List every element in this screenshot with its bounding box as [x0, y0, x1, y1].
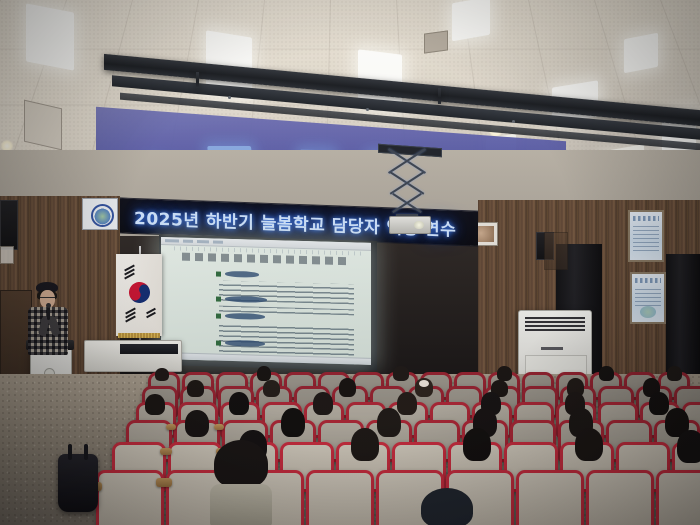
attendee [184, 410, 210, 438]
seat-armrest [156, 478, 172, 487]
attendee [186, 380, 205, 398]
truss-bolt [228, 96, 231, 99]
attendee-hair [187, 380, 204, 397]
taeguk-circle [125, 278, 153, 306]
ac-brand-label [541, 347, 563, 350]
attendee-hair [667, 366, 682, 381]
auditorium-seat [306, 470, 374, 525]
auditorium-seat [586, 470, 654, 525]
ceiling-scissor-lift [382, 152, 432, 218]
attendee-hair [185, 410, 209, 437]
attendee-hair [339, 378, 356, 397]
attendee-hair [281, 408, 305, 437]
section-heading [225, 271, 259, 278]
attendee-hair [599, 366, 614, 381]
attendee [462, 428, 492, 462]
lectern-front-panel [120, 344, 178, 354]
section-bullet [216, 271, 221, 276]
attendee [144, 394, 166, 416]
attendee [338, 378, 357, 398]
section-heading [225, 313, 265, 320]
poster-graphic [640, 306, 657, 318]
seat-armrest [214, 424, 224, 430]
truss-bolt [366, 108, 369, 111]
attendee-hair [497, 366, 512, 381]
backpack-strap [68, 444, 72, 460]
attendee-hair [463, 428, 491, 461]
attendee [350, 428, 380, 462]
attendee [392, 366, 410, 382]
auditorium-seat [96, 470, 164, 525]
wall-poster-lower [630, 272, 666, 324]
projection-screen-frame [159, 235, 377, 371]
backpack-on-seat [58, 454, 98, 512]
seat-armrest [166, 424, 176, 430]
poster-body-lines [635, 286, 661, 305]
section-heading [225, 296, 267, 303]
seat-armrest [160, 448, 172, 455]
attendee-hair [229, 392, 249, 415]
attendee-hair [257, 366, 271, 381]
attendee [574, 428, 604, 462]
section-bullet [216, 341, 221, 346]
hair-clip [419, 380, 429, 387]
poster-body-lines [633, 224, 659, 251]
truss-bolt [512, 120, 515, 123]
wall-speaker [0, 200, 18, 250]
attendee-hair [575, 428, 603, 461]
section-bullet [216, 314, 221, 319]
attendee-hair [677, 430, 700, 463]
led-banner-text: 2025년 하반기 늘봄학교 담당자 역량 [134, 204, 419, 239]
stage-curtain-far-right [666, 254, 700, 384]
projector-lens [414, 221, 424, 230]
ceiling-access-hatch [24, 100, 62, 151]
microphone-head [46, 303, 51, 308]
korean-flag [116, 254, 162, 336]
section-body [219, 323, 355, 351]
auditorium-seat [516, 470, 584, 525]
school-emblem-sign [82, 198, 118, 230]
ac-grille [525, 317, 585, 331]
truss-hanger [438, 88, 441, 104]
auditorium-photo: 2025년 하반기 늘봄학교 담당자 역량 연수 [0, 0, 700, 525]
attendee-hair [155, 368, 169, 381]
ceiling-vent [424, 30, 448, 53]
attendee-hair [393, 366, 409, 381]
school-emblem-icon [91, 204, 114, 227]
attendee-hair [145, 394, 165, 415]
poster-title-block [635, 278, 662, 283]
flag-fringe [118, 333, 160, 338]
ceiling-light-panel [26, 3, 74, 70]
attendee [228, 392, 250, 416]
ceiling-light-panel [624, 33, 658, 74]
attendee [666, 366, 683, 382]
attendee [598, 366, 615, 382]
attendee [280, 408, 306, 438]
attendee-hair [214, 440, 268, 488]
poster-title-block [633, 216, 660, 221]
projector [389, 216, 431, 234]
attendee [312, 392, 334, 416]
attendee-hair [421, 488, 473, 525]
attendee-foreground [418, 488, 476, 525]
slide-content [161, 237, 371, 365]
microphone [47, 306, 50, 320]
attendee [676, 430, 700, 464]
attendee-foreground [210, 440, 272, 525]
attendee-hair [351, 428, 379, 461]
section-bullet [216, 297, 221, 302]
truss-hanger [196, 72, 199, 88]
framed-picture [0, 246, 14, 264]
stage-side-panel [544, 232, 568, 270]
ceiling-light-panel [452, 0, 490, 41]
attendee-hair [263, 380, 280, 397]
projection-screen [161, 237, 371, 365]
attendee-hair [377, 408, 401, 437]
attendee-hair [313, 392, 333, 415]
attendee [262, 380, 281, 398]
attendee [154, 368, 170, 382]
backpack-strap [84, 444, 88, 460]
document-section [216, 270, 355, 274]
presenter-glasses [40, 297, 55, 301]
attendee-shirt [210, 484, 272, 525]
wall-poster-upper [628, 210, 664, 262]
auditorium-seat [656, 470, 700, 525]
presenter [22, 282, 78, 358]
